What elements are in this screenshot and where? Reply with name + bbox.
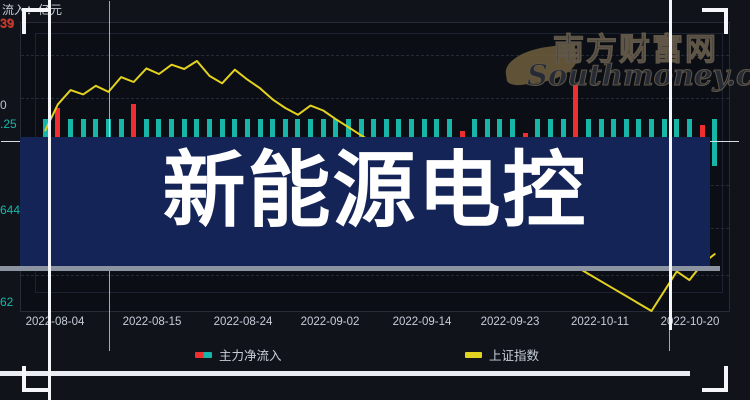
selection-handle-top-left[interactable] bbox=[22, 8, 48, 34]
watermark-en: Southmoney.com bbox=[527, 58, 750, 92]
legend-swatch-icon bbox=[195, 352, 212, 358]
y-axis-tick-label: 39 bbox=[0, 16, 13, 30]
x-axis-tick-label: 2022-08-15 bbox=[123, 316, 182, 328]
y-axis-tick-label: .25 bbox=[0, 117, 17, 131]
legend-item[interactable]: 主力净流入 bbox=[195, 345, 282, 364]
y-axis-tick-label: 62 bbox=[0, 295, 13, 309]
bottom-divider bbox=[0, 371, 690, 376]
x-axis-tick-label: 2022-09-14 bbox=[393, 316, 452, 328]
x-axis-labels: 2022-08-042022-08-152022-08-242022-09-02… bbox=[0, 316, 750, 334]
x-axis-tick-label: 2022-08-04 bbox=[26, 316, 85, 328]
x-axis-tick-label: 2022-09-23 bbox=[481, 316, 540, 328]
selection-handle-bottom-left[interactable] bbox=[22, 366, 48, 392]
selection-handle-top-right[interactable] bbox=[702, 8, 728, 34]
x-axis-tick-label: 2022-08-24 bbox=[214, 316, 273, 328]
grey-divider bbox=[0, 266, 720, 271]
screenshot-root: 流入：亿元 39 390.2564462 新能源电控 2022-08-04202… bbox=[0, 0, 750, 400]
x-axis-tick-label: 2022-10-11 bbox=[571, 316, 629, 328]
page-title: 新能源电控 bbox=[0, 135, 750, 245]
x-axis-tick-label: 2022-09-02 bbox=[301, 316, 360, 328]
y-axis-tick-label: 0 bbox=[0, 98, 7, 112]
legend-swatch-icon bbox=[465, 352, 482, 358]
chart-legend: 主力净流入上证指数 bbox=[0, 345, 750, 367]
legend-label: 主力净流入 bbox=[219, 345, 282, 364]
legend-label: 上证指数 bbox=[489, 345, 539, 364]
selection-handle-bottom-right[interactable] bbox=[702, 366, 728, 392]
selection-frame-left-edge[interactable] bbox=[48, 0, 51, 400]
selection-frame-right-edge[interactable] bbox=[669, 0, 672, 330]
legend-item[interactable]: 上证指数 bbox=[465, 345, 539, 364]
